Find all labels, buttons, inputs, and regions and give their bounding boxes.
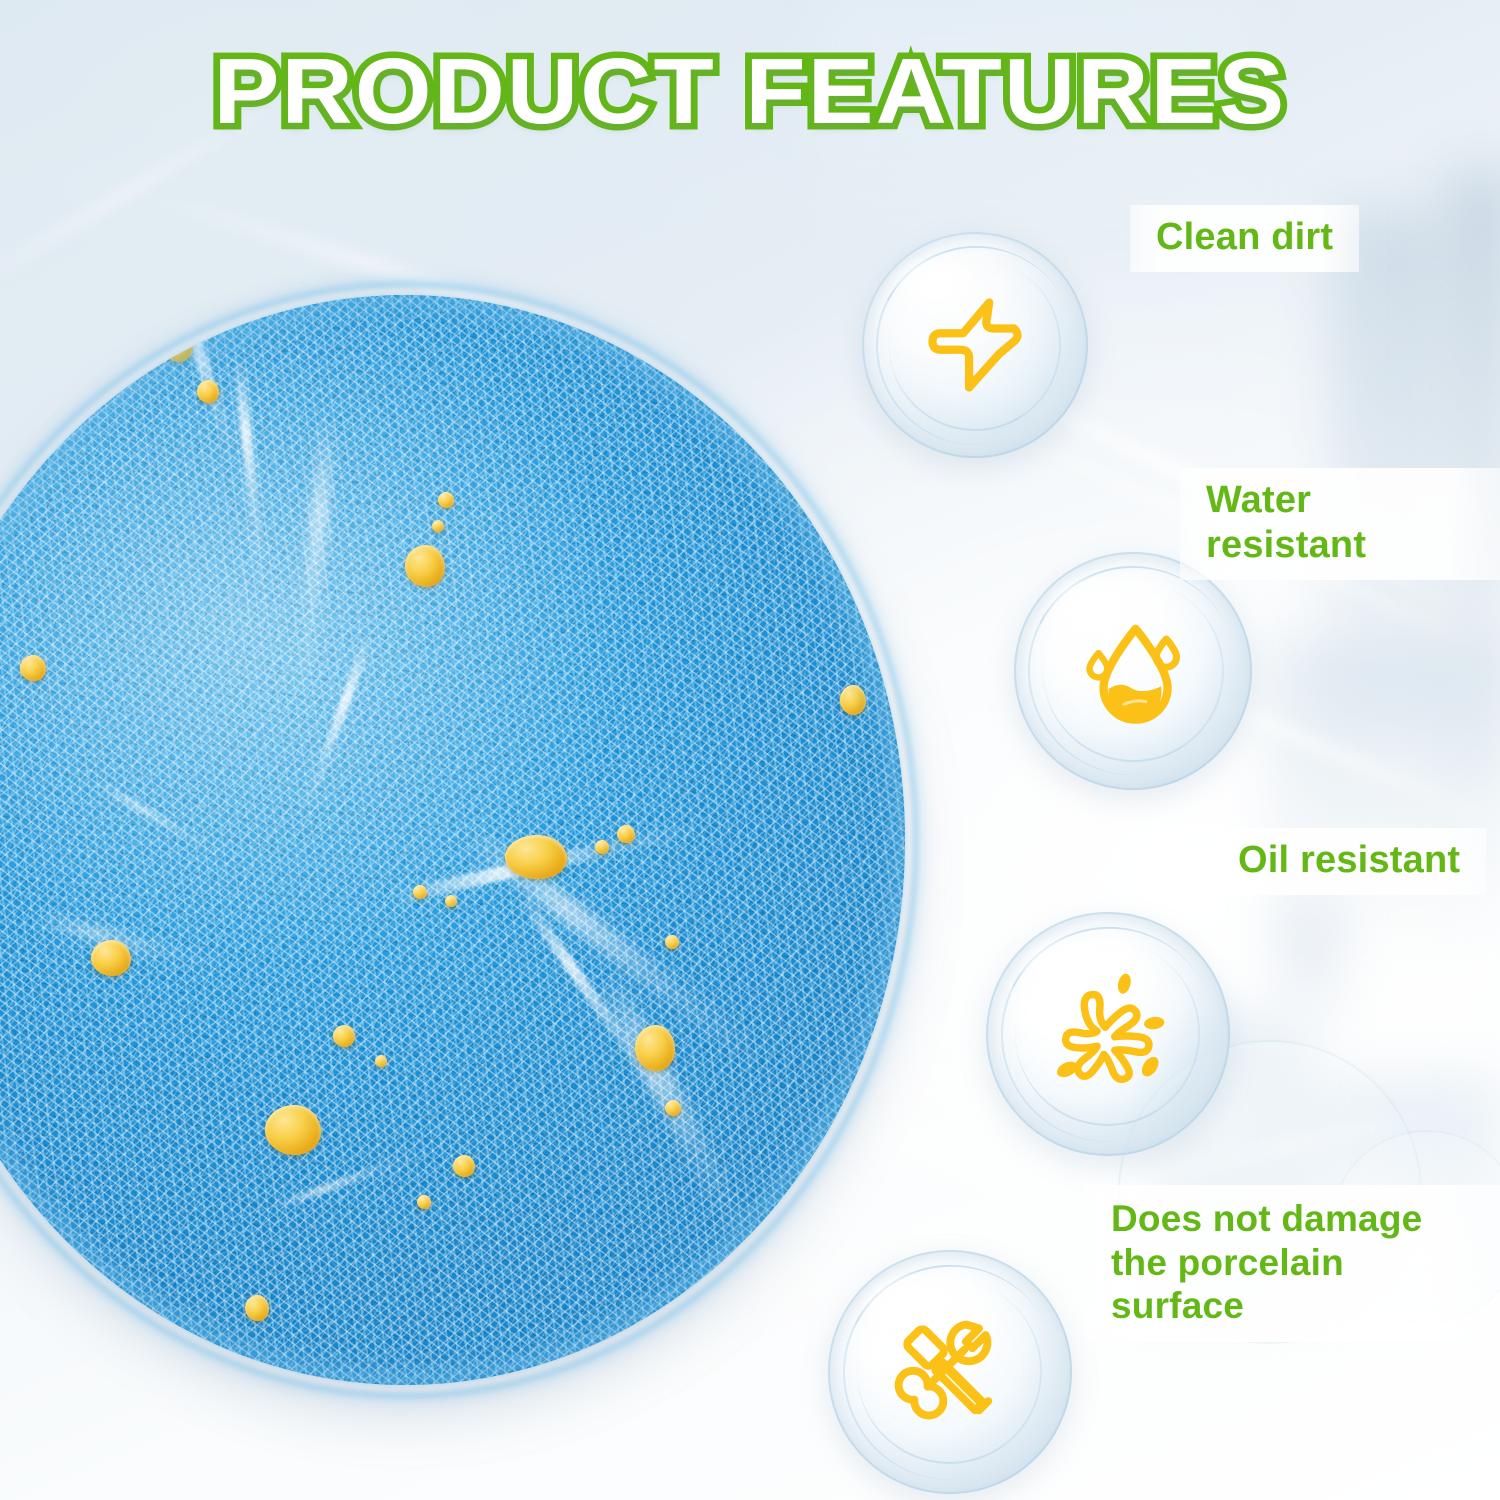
grease-spot [333, 1025, 355, 1047]
grease-spot [505, 835, 567, 879]
grease-spot [405, 545, 445, 587]
grease-spot [445, 895, 457, 907]
grease-spot [265, 1105, 321, 1155]
grease-spot [665, 935, 679, 949]
feature-bubble-water-resistant [1014, 552, 1252, 790]
grease-spot [438, 492, 454, 508]
grease-spot [413, 885, 427, 899]
oil-splash-icon [1040, 966, 1176, 1102]
lightning-bolt-icon [916, 286, 1034, 404]
grease-spot [91, 940, 131, 976]
grease-spot [163, 330, 193, 362]
grease-spot [453, 1155, 475, 1177]
feature-label-clean-dirt: Clean dirt [1130, 205, 1359, 272]
grease-spot [432, 520, 444, 532]
feature-bubble-no-damage [828, 1250, 1072, 1494]
feature-label-no-damage: Does not damage the porcelain surface [1085, 1185, 1500, 1342]
grease-spot [20, 655, 46, 681]
feature-bubble-oil-resistant [986, 912, 1230, 1156]
feature-label-water-resistant: Water resistant [1180, 468, 1500, 580]
grease-spot [595, 840, 609, 854]
product-feature-infographic: PRODUCT FEATURES Clean dirt Water resist… [0, 0, 1500, 1500]
background-blur-shape [1280, 900, 1340, 1040]
grease-spot [245, 1295, 269, 1321]
background-blur-shape [820, 0, 1250, 230]
pad-shading [0, 295, 905, 1385]
feature-bubble-clean-dirt [862, 232, 1088, 458]
grease-spot [840, 685, 866, 715]
background-blur-shape [1270, 640, 1500, 940]
grease-spot [635, 1025, 675, 1071]
grease-spot [197, 380, 219, 403]
grease-spot [617, 825, 635, 843]
grease-spot [417, 1195, 431, 1209]
scouring-pad [0, 295, 905, 1385]
feature-label-oil-resistant: Oil resistant [1212, 828, 1486, 895]
water-drop-icon [1069, 607, 1197, 735]
grease-spot [665, 1100, 681, 1116]
tools-wrench-screwdriver-icon [884, 1306, 1016, 1438]
grease-spot [375, 1055, 387, 1067]
